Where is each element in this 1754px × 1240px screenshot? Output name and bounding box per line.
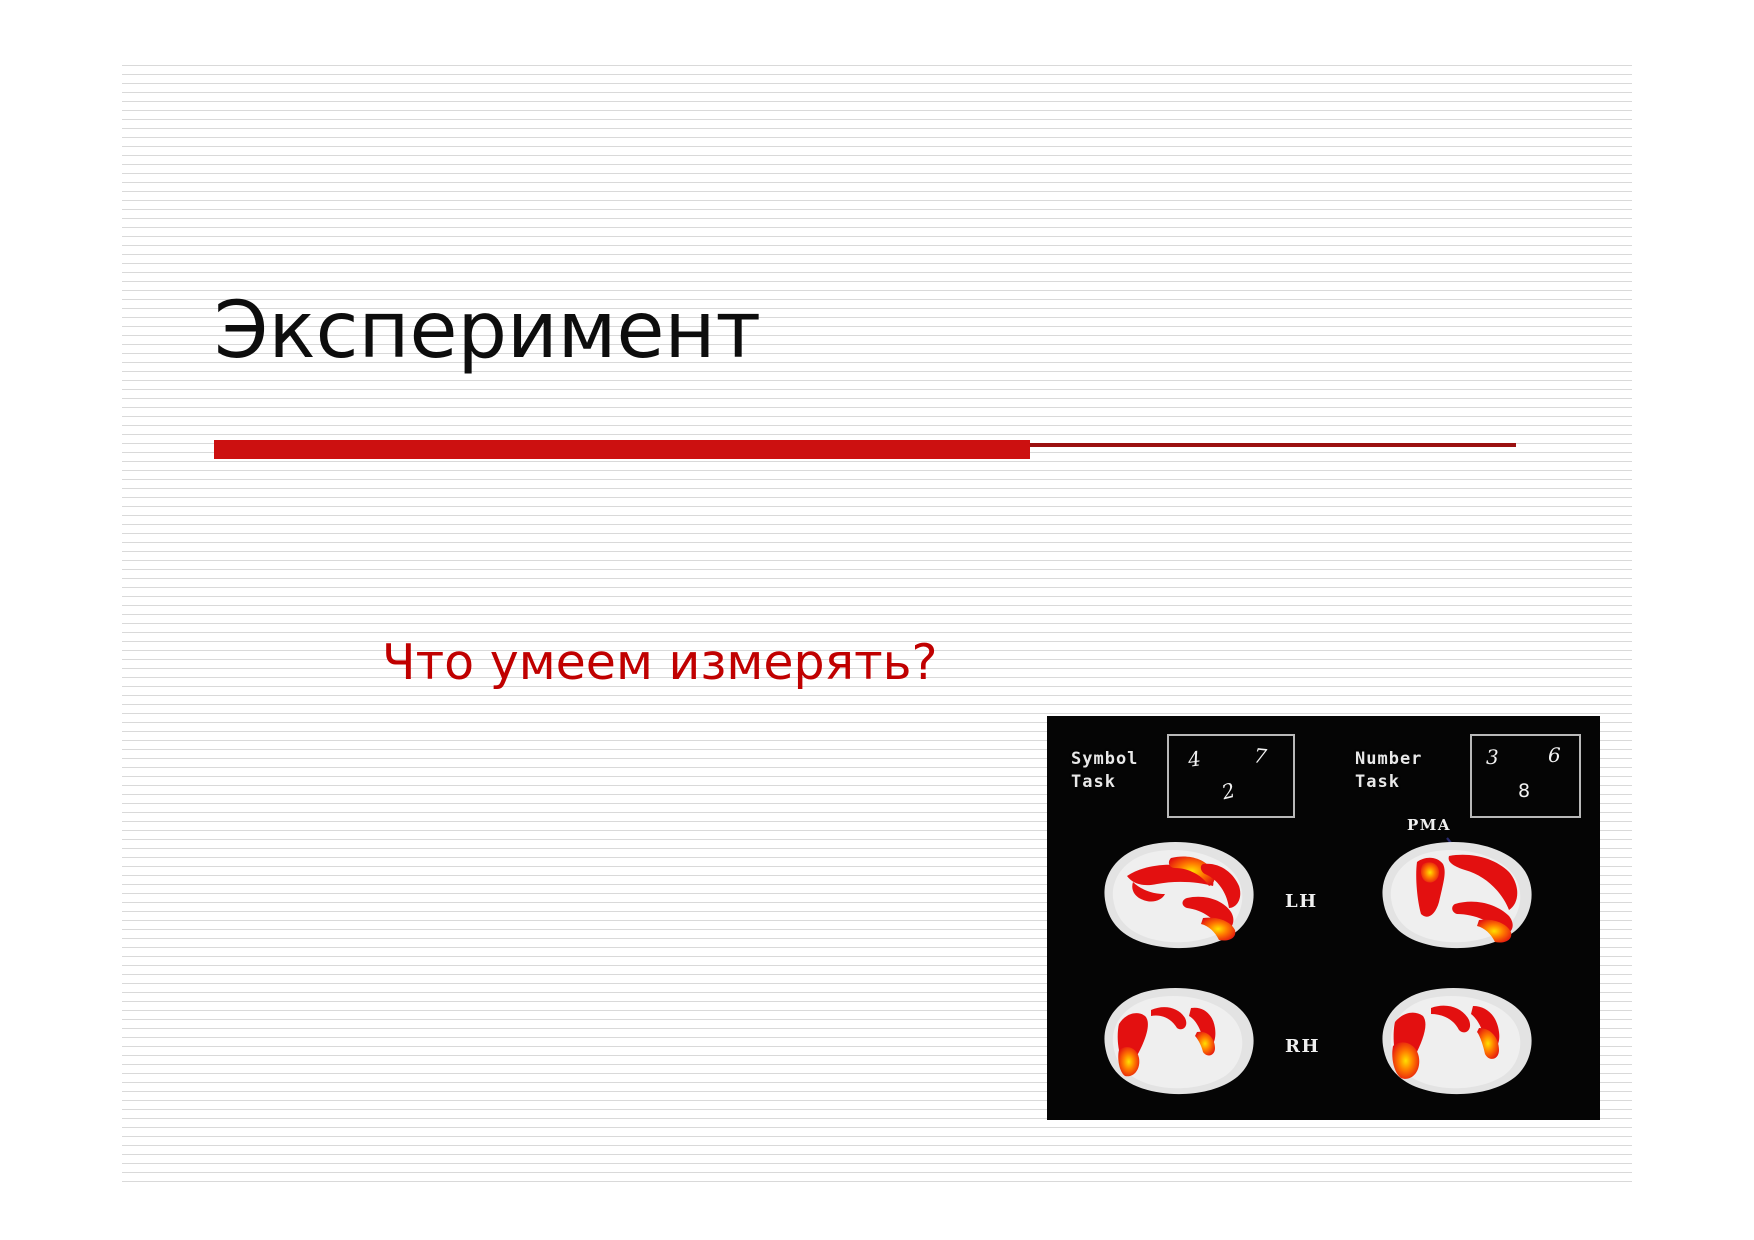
number-stimulus-1: 3	[1486, 747, 1499, 767]
number-task-label: Number Task	[1355, 748, 1422, 794]
number-stimulus-2: 6	[1548, 745, 1561, 765]
number-stimulus-3: 8	[1518, 782, 1530, 801]
subtitle-text: Что умеем измерять?	[382, 638, 938, 687]
symbol-task-label: Symbol Task	[1071, 748, 1138, 794]
slide-canvas: Эксперимент Что умеем измерять? Symbol T…	[0, 0, 1754, 1240]
number-task-label-line2: Task	[1355, 771, 1422, 794]
symbol-stimulus-1: 4	[1187, 748, 1202, 770]
symbol-task-label-line2: Task	[1071, 771, 1138, 794]
brain-lh-number-task	[1369, 828, 1547, 960]
symbol-stimulus-2: 7	[1253, 745, 1268, 766]
hemisphere-label-rh: RH	[1285, 1036, 1320, 1057]
brain-rh-symbol-task	[1091, 974, 1269, 1106]
brain-rh-number-task	[1369, 974, 1547, 1106]
symbol-task-stimulus-box: 4 7 2	[1167, 734, 1295, 818]
brain-lh-symbol-task	[1091, 828, 1269, 960]
symbol-task-label-line1: Symbol	[1071, 749, 1138, 769]
title-underline-accent	[214, 440, 1030, 459]
fmri-brain-activation-figure: Symbol Task 4 7 2 Number Task 3 6 8 PMA	[1047, 716, 1600, 1120]
number-task-label-line1: Number	[1355, 749, 1422, 769]
page-title: Эксперимент	[214, 292, 1414, 370]
symbol-stimulus-3: 2	[1220, 780, 1237, 802]
number-task-stimulus-box: 3 6 8	[1470, 734, 1581, 818]
hemisphere-label-lh: LH	[1285, 891, 1318, 912]
